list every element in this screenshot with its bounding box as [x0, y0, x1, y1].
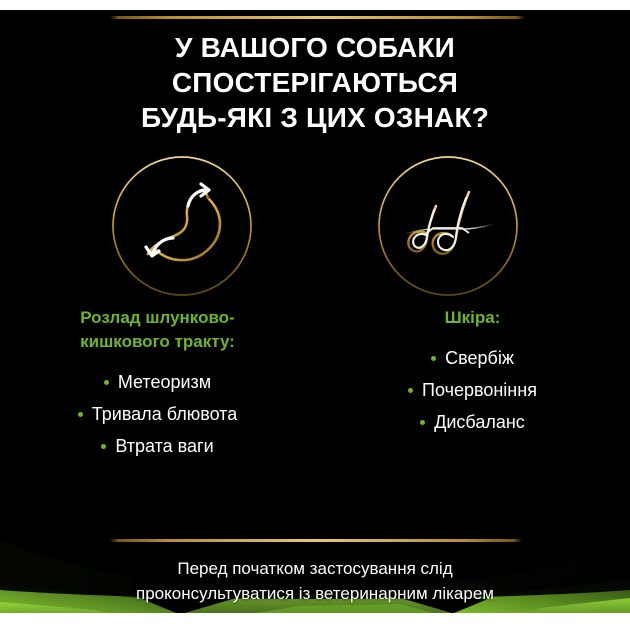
hair-follicle-icon [376, 154, 520, 298]
bullet-dot-icon [420, 420, 425, 425]
symptom-columns: Розлад шлунково- кишкового тракту: Метео… [0, 306, 630, 462]
bottom-gold-divider [110, 539, 522, 542]
bullet-dot-icon [408, 388, 413, 393]
skin-item-3: Дисбаланс [434, 406, 525, 438]
bullet-dot-icon [104, 380, 109, 385]
skin-item-1: Свербіж [445, 342, 514, 374]
stomach-icon [110, 154, 254, 298]
title-line-1: У ВАШОГО СОБАКИ [0, 30, 630, 65]
title-line-2: СПОСТЕРІГАЮТЬСЯ [0, 65, 630, 100]
footer-disclaimer: Перед початком застосування слід проконс… [0, 556, 630, 606]
column-skin: Шкіра: Свербіж Почервоніння Дисбаланс [315, 306, 630, 462]
top-gold-divider [110, 16, 525, 19]
bullet-dot-icon [431, 356, 436, 361]
bullet-dot-icon [101, 444, 106, 449]
gastro-item-1: Метеоризм [118, 366, 211, 398]
column-skin-heading: Шкіра: [315, 306, 630, 330]
column-gastro-heading: Розлад шлунково- кишкового тракту: [0, 306, 315, 354]
column-gastro: Розлад шлунково- кишкового тракту: Метео… [0, 306, 315, 462]
footer-line-2: проконсультуватися із ветеринарним лікар… [0, 581, 630, 606]
page-title: У ВАШОГО СОБАКИ СПОСТЕРІГАЮТЬСЯ БУДЬ-ЯКІ… [0, 30, 630, 135]
list-item: Свербіж [315, 342, 630, 374]
title-line-3: БУДЬ-ЯКІ З ЦИХ ОЗНАК? [0, 100, 630, 135]
gastro-symptom-list: Метеоризм Тривала блювота Втрата ваги [0, 366, 315, 462]
gastro-heading-line-2: кишкового тракту: [24, 330, 291, 354]
skin-heading-line-1: Шкіра: [339, 306, 606, 330]
poster-root: У ВАШОГО СОБАКИ СПОСТЕРІГАЮТЬСЯ БУДЬ-ЯКІ… [0, 0, 630, 630]
bullet-dot-icon [78, 412, 83, 417]
skin-symptom-list: Свербіж Почервоніння Дисбаланс [315, 342, 630, 438]
poster-stage: У ВАШОГО СОБАКИ СПОСТЕРІГАЮТЬСЯ БУДЬ-ЯКІ… [0, 10, 630, 613]
gastro-heading-line-1: Розлад шлунково- [24, 306, 291, 330]
skin-item-2: Почервоніння [422, 374, 537, 406]
gastro-item-3: Втрата ваги [115, 430, 213, 462]
list-item: Втрата ваги [0, 430, 315, 462]
list-item: Метеоризм [0, 366, 315, 398]
list-item: Тривала блювота [0, 398, 315, 430]
list-item: Почервоніння [315, 374, 630, 406]
bottom-white-margin [0, 613, 630, 630]
footer-line-1: Перед початком застосування слід [0, 556, 630, 581]
gastro-item-2: Тривала блювота [92, 398, 237, 430]
list-item: Дисбаланс [315, 406, 630, 438]
